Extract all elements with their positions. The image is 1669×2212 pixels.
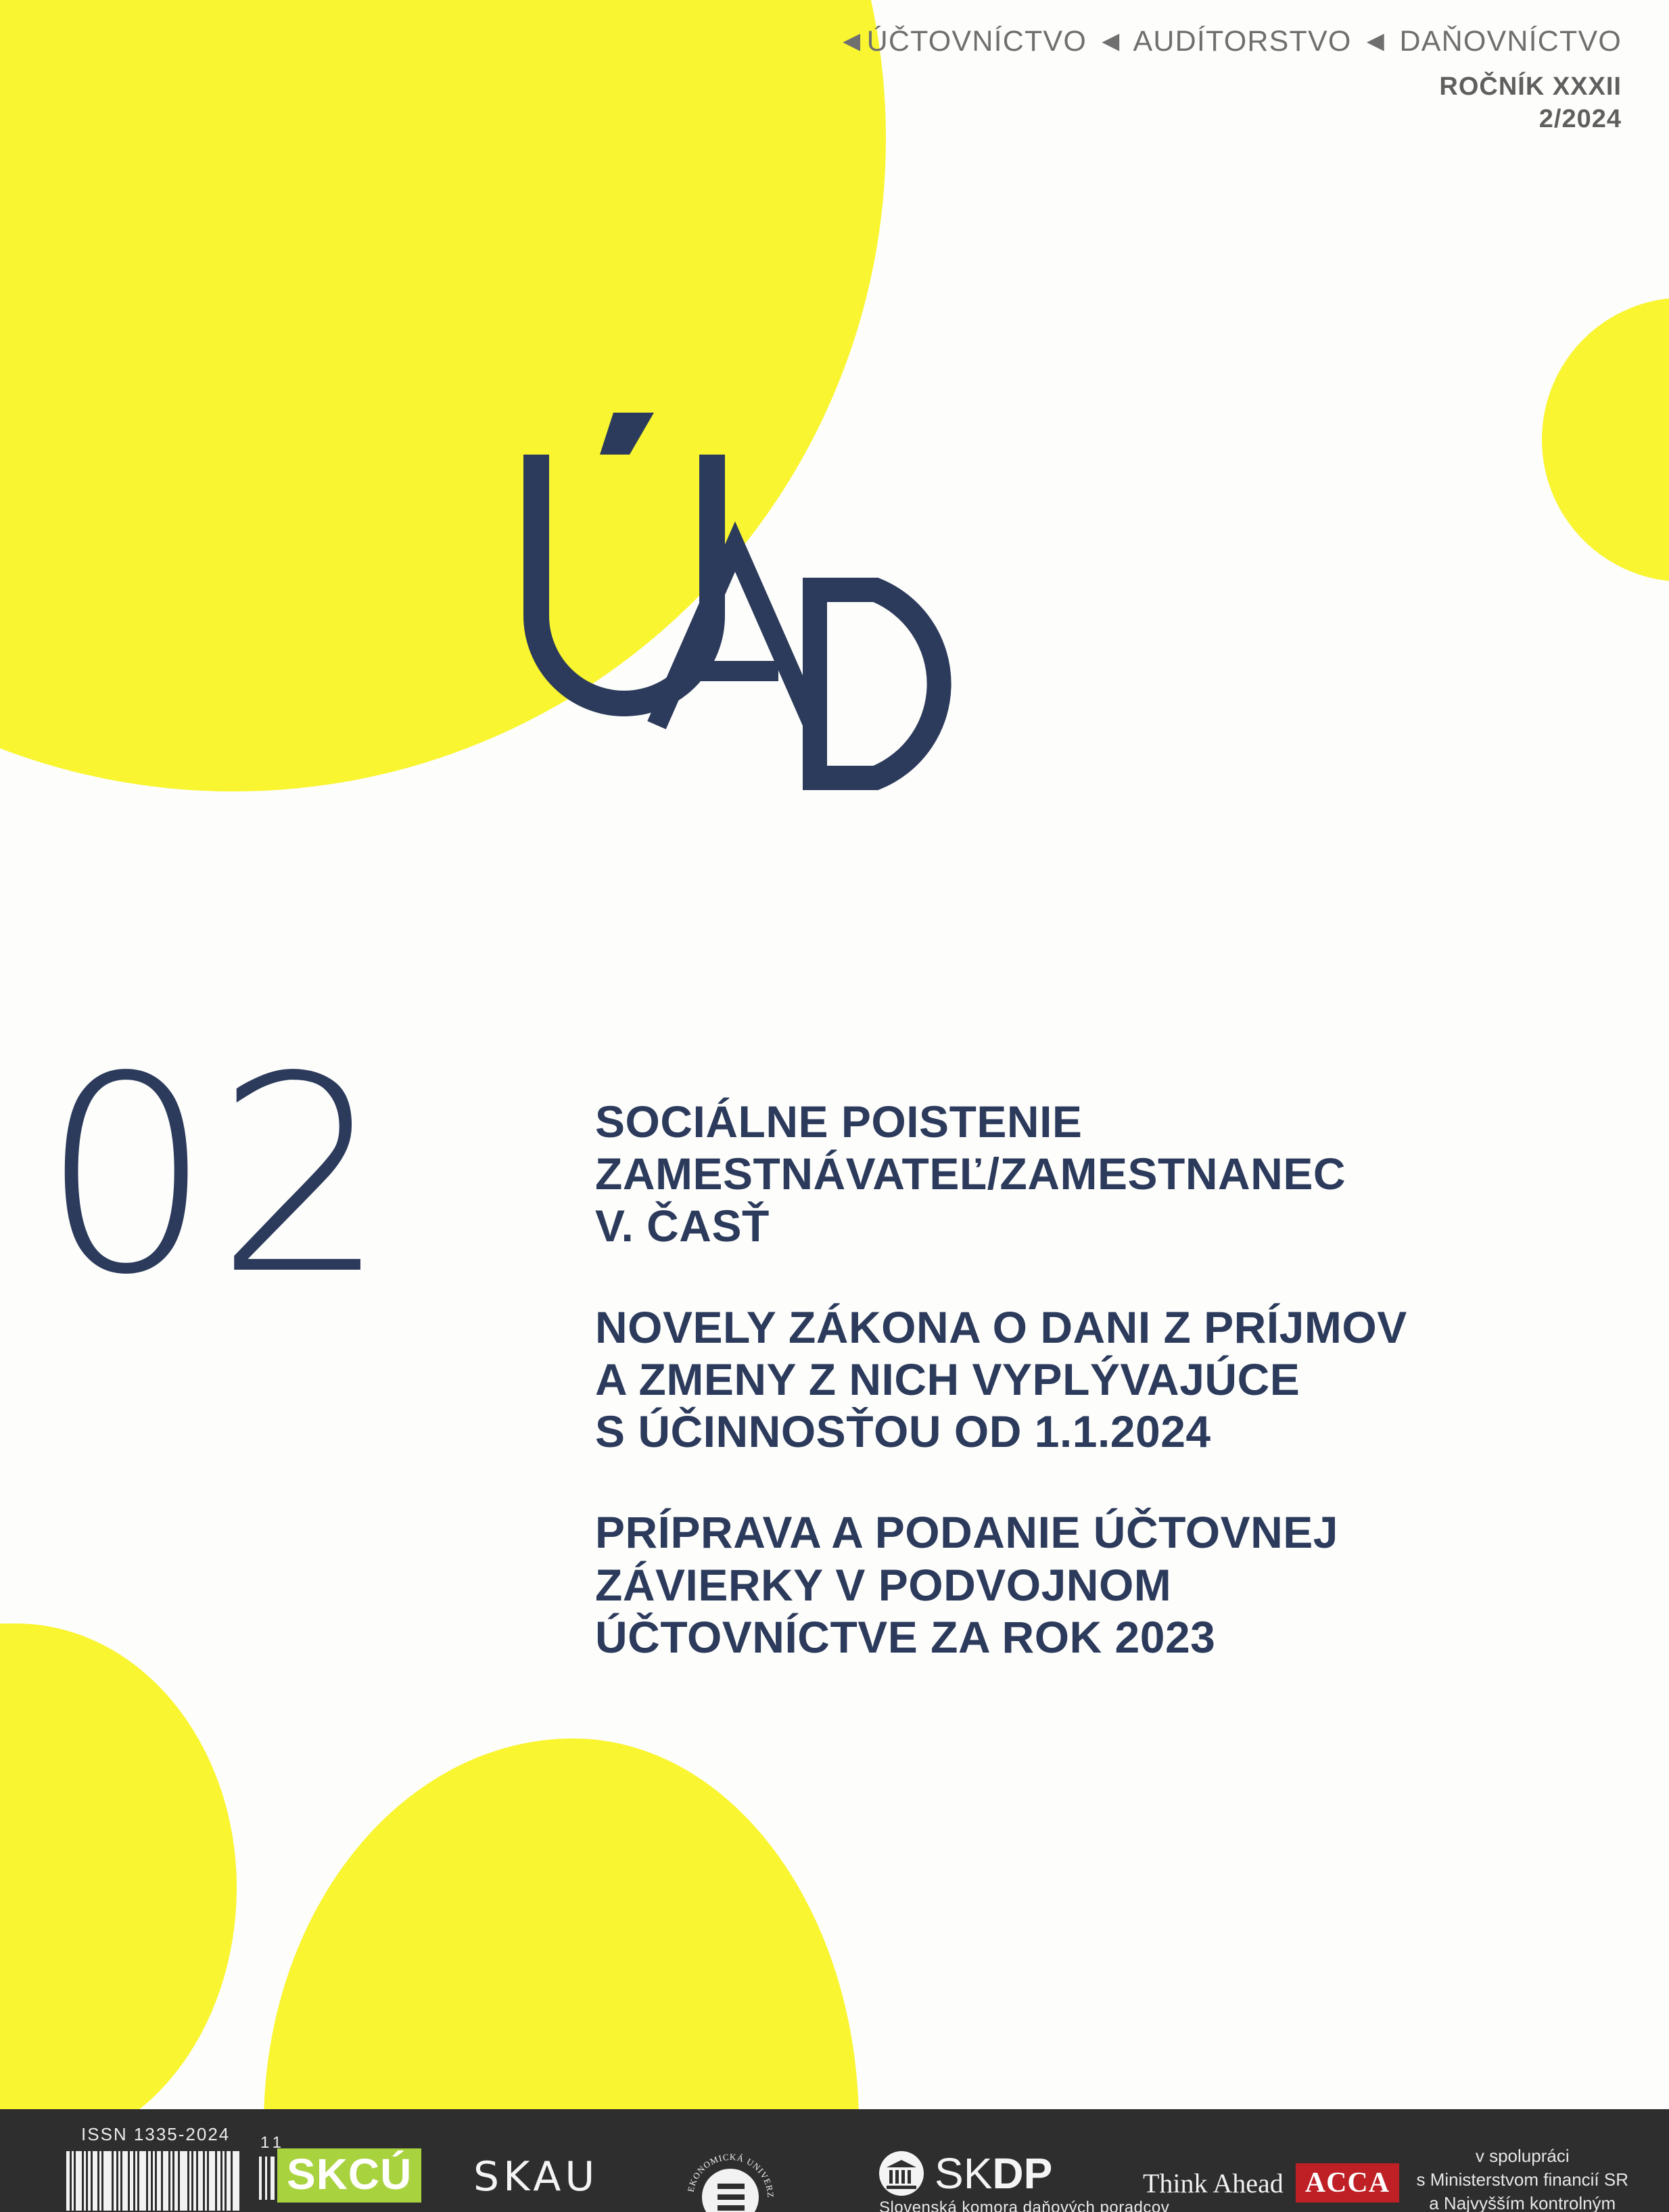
arrow-left-icon: ◄ (1096, 25, 1126, 57)
yellow-circle-right-edge (1542, 298, 1669, 582)
headline-line: NOVELY ZÁKONA O DANI Z PRÍJMOV (595, 1301, 1576, 1354)
ministry-line: s Ministerstvom financií SR (1416, 2168, 1628, 2192)
yellow-blob-bottom-left (0, 1623, 237, 2151)
skdp-wordmark: SKDP (935, 2152, 1052, 2195)
acca-tagline: Think Ahead (1143, 2167, 1284, 2199)
headline-line: ÚČTOVNÍCTVE ZA ROK 2023 (595, 1611, 1576, 1663)
issue-number-large: 02 (41, 1042, 390, 1312)
headline-line: V. ČASŤ (595, 1200, 1576, 1252)
headline-list: SOCIÁLNE POISTENIE ZAMESTNÁVATEĽ/ZAMESTN… (595, 1096, 1576, 1663)
yellow-block-top-left (0, 0, 243, 622)
cover-footer: ISSN 1335-2024 11 SKCÚ SKA (0, 2109, 1669, 2212)
headline-line: A ZMENY Z NICH VYPLÝVAJÚCE (595, 1354, 1576, 1406)
uad-logo (497, 413, 1052, 791)
ministry-cooperation-note: v spolupráci s Ministerstvom financií SR… (1416, 2144, 1628, 2212)
tagline: ◄ÚČTOVNÍCTVO◄ AUDÍTORSTVO◄ DAŇOVNÍCTVO (837, 26, 1622, 57)
skdp-prefix: SK (935, 2149, 992, 2198)
issn-label: ISSN 1335-2024 (81, 2124, 230, 2145)
partner-logo-skcu: SKCÚ (277, 2148, 421, 2203)
partner-logo-skdp: SKDP (879, 2151, 1052, 2196)
volume-label: ROČNÍK XXXII (837, 71, 1622, 103)
arrow-left-icon: ◄ (1361, 25, 1391, 57)
tagline-item-danovnictvo: DAŇOVNÍCTVO (1399, 25, 1622, 57)
barcode-bars (66, 2151, 241, 2211)
headline-block: SOCIÁLNE POISTENIE ZAMESTNÁVATEĽ/ZAMESTN… (595, 1096, 1576, 1253)
ministry-line: v spolupráci (1416, 2144, 1628, 2168)
issue-number-label: 2/2024 (837, 103, 1622, 136)
partner-logo-skau: SKAU (473, 2157, 598, 2197)
barcode: 11 (66, 2151, 290, 2212)
bank-building-icon (879, 2151, 924, 2196)
headline-block: PRÍPRAVA A PODANIE ÚČTOVNEJ ZÁVIERKY V P… (595, 1506, 1576, 1663)
skdp-suffix: DP (992, 2149, 1052, 2198)
arrow-left-icon: ◄ (837, 25, 867, 57)
acca-wordmark: ACCA (1296, 2163, 1399, 2203)
ministry-line: a Najvyšším kontrolným (1416, 2192, 1628, 2212)
magazine-cover: ◄ÚČTOVNÍCTVO◄ AUDÍTORSTVO◄ DAŇOVNÍCTVO R… (0, 0, 1669, 2212)
headline-block: NOVELY ZÁKONA O DANI Z PRÍJMOV A ZMENY Z… (595, 1301, 1576, 1458)
tagline-item-uctovnictvo: ÚČTOVNÍCTVO (867, 25, 1087, 57)
headline-line: ZÁVIERKY V PODVOJNOM (595, 1559, 1576, 1611)
headline-line: S ÚČINNOSŤOU OD 1.1.2024 (595, 1406, 1576, 1458)
partner-logo-acca: Think Ahead ACCA (1143, 2163, 1399, 2203)
headline-line: SOCIÁLNE POISTENIE (595, 1096, 1576, 1148)
tagline-item-auditorstvo: AUDÍTORSTVO (1133, 25, 1352, 57)
issue-info: ROČNÍK XXXII 2/2024 (837, 71, 1622, 135)
cover-header: ◄ÚČTOVNÍCTVO◄ AUDÍTORSTVO◄ DAŇOVNÍCTVO R… (837, 26, 1622, 135)
headline-line: ZAMESTNÁVATEĽ/ZAMESTNANEC (595, 1148, 1576, 1200)
skdp-subtitle: Slovenská komora daňových poradcov (879, 2198, 1169, 2212)
headline-line: PRÍPRAVA A PODANIE ÚČTOVNEJ (595, 1506, 1576, 1559)
partner-logo-university-seal: EKONOMICKÁ UNIVERZITA V BRAT (680, 2144, 781, 2212)
